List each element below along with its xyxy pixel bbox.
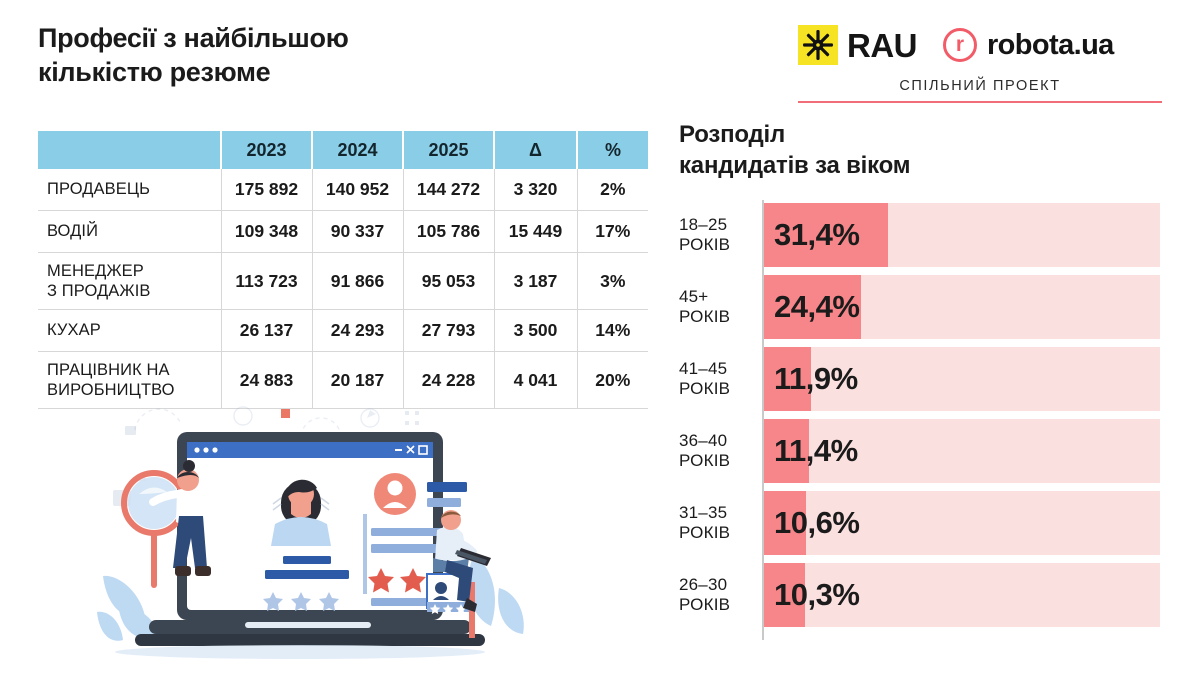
bar-row: 26–30 РОКІВ 10,3% [679,563,1169,627]
column-header-2023: 2023 [221,131,312,169]
bar-row: 31–35 РОКІВ 10,6% [679,491,1169,555]
cell-profession: ПРОДАВЕЦЬ [38,169,221,211]
cell-2023: 26 137 [221,310,312,352]
logo-block: RAU r robota.ua СПІЛЬНИЙ ПРОЕКТ [798,24,1162,104]
bar-row: 18–25 РОКІВ 31,4% [679,203,1169,267]
column-header-profession [38,131,221,169]
cell-percent: 20% [577,352,648,409]
cell-delta: 3 187 [494,253,577,310]
cell-2025: 95 053 [403,253,494,310]
cell-2023: 113 723 [221,253,312,310]
cell-2024: 140 952 [312,169,403,211]
bar-value-label: 10,6% [774,505,859,541]
bar-category-label: 26–30 РОКІВ [679,575,759,615]
cell-2024: 90 337 [312,211,403,253]
cell-delta: 3 500 [494,310,577,352]
bar-value-label: 11,4% [774,433,858,469]
column-header-2025: 2025 [403,131,494,169]
column-header-percent: % [577,131,648,169]
cell-2025: 27 793 [403,310,494,352]
robota-logo: r robota.ua [943,28,1114,62]
cell-profession: МЕНЕДЖЕР З ПРОДАЖІВ [38,253,221,310]
bar-category-label: 45+ РОКІВ [679,287,759,327]
cell-delta: 3 320 [494,169,577,211]
table-row: КУХАР 26 137 24 293 27 793 3 500 14% [38,310,648,352]
bar-category-label: 41–45 РОКІВ [679,359,759,399]
cell-percent: 3% [577,253,648,310]
table-row: МЕНЕДЖЕР З ПРОДАЖІВ 113 723 91 866 95 05… [38,253,648,310]
cell-profession: ВОДІЙ [38,211,221,253]
table-row: ПРОДАВЕЦЬ 175 892 140 952 144 272 3 320 … [38,169,648,211]
cell-percent: 14% [577,310,648,352]
bar-category-label: 36–40 РОКІВ [679,431,759,471]
table-header-row: 2023 2024 2025 Δ % [38,131,648,169]
bar-row: 36–40 РОКІВ 11,4% [679,419,1169,483]
infographic-page: Професії з найбільшою кількістю резюме [0,0,1200,675]
rau-wordmark: RAU [847,29,917,62]
cell-2025: 105 786 [403,211,494,253]
cell-2024: 24 293 [312,310,403,352]
cell-2024: 91 866 [312,253,403,310]
cell-2023: 175 892 [221,169,312,211]
robota-wordmark: robota.ua [987,31,1114,60]
table-row: ВОДІЙ 109 348 90 337 105 786 15 449 17% [38,211,648,253]
chart-title: Розподіл кандидатів за віком [679,120,1099,181]
professions-table-wrap: 2023 2024 2025 Δ % ПРОДАВЕЦЬ 175 892 140… [38,131,648,409]
cell-2025: 144 272 [403,169,494,211]
bar-value-label: 10,3% [774,577,859,613]
robota-r-circle-icon: r [943,28,977,62]
bar-row: 45+ РОКІВ 24,4% [679,275,1169,339]
bar-value-label: 11,9% [774,361,858,397]
bar-value-label: 24,4% [774,289,859,325]
logo-divider [798,101,1162,103]
bar-value-label: 31,4% [774,217,859,253]
cell-delta: 15 449 [494,211,577,253]
page-title: Професії з найбільшою кількістю резюме [38,22,458,90]
cell-percent: 17% [577,211,648,253]
age-distribution-bar-chart: 18–25 РОКІВ 31,4% 45+ РОКІВ 24,4% 41–45 … [679,203,1169,635]
cell-profession: КУХАР [38,310,221,352]
professions-table: 2023 2024 2025 Δ % ПРОДАВЕЦЬ 175 892 140… [38,131,648,409]
column-header-2024: 2024 [312,131,403,169]
rau-logo: RAU [798,25,917,65]
bar-row: 41–45 РОКІВ 11,9% [679,347,1169,411]
joint-project-label: СПІЛЬНИЙ ПРОЕКТ [798,78,1162,94]
logo-row: RAU r robota.ua [798,24,1162,66]
column-header-delta: Δ [494,131,577,169]
cell-2023: 109 348 [221,211,312,253]
bar-category-label: 18–25 РОКІВ [679,215,759,255]
cell-percent: 2% [577,169,648,211]
bar-category-label: 31–35 РОКІВ [679,503,759,543]
asterisk-star-icon [798,25,838,65]
recruitment-laptop-illustration [95,398,565,660]
robota-r-letter: r [956,34,964,55]
